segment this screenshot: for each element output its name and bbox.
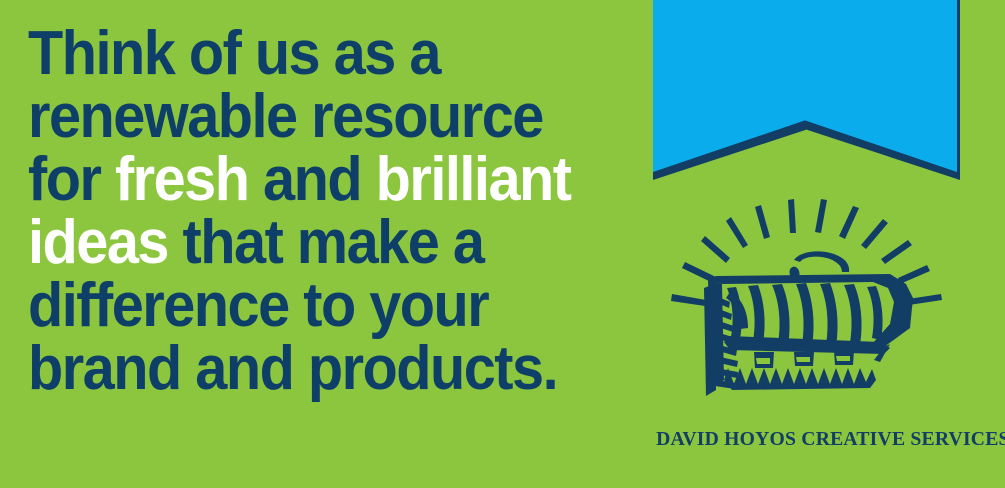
- headline-segment-white-fresh: fresh: [115, 145, 249, 214]
- pennant-banner: [650, 0, 960, 180]
- headline-segment-navy-2: and: [249, 145, 376, 214]
- pennant-fill: [653, 0, 957, 172]
- brand-panel: DAVID HOYOS CREATIVE SERVICES: [650, 0, 1005, 488]
- advertisement-banner: Think of us as a renewable resource for …: [0, 0, 1005, 488]
- headline-text: Think of us as a renewable resource for …: [28, 22, 605, 400]
- company-name: DAVID HOYOS CREATIVE SERVICES: [656, 428, 949, 451]
- briefcase-with-rays-icon: [658, 192, 958, 417]
